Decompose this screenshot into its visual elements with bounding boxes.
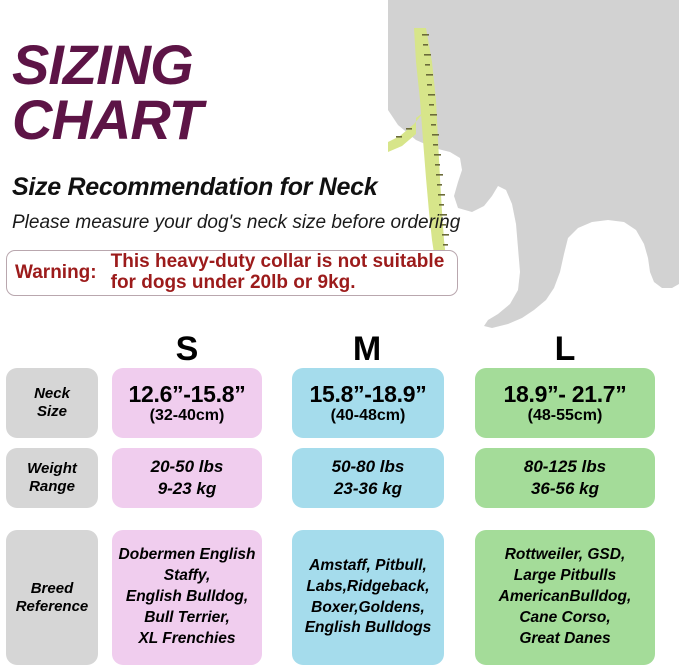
row-label-breed-line-1: Breed bbox=[31, 580, 74, 597]
breed-medium-line-2: Labs,Ridgeback, bbox=[305, 577, 432, 598]
breed-large-line-4: Cane Corso, bbox=[499, 608, 632, 629]
row-label-neck-line-2: Size bbox=[37, 403, 67, 420]
breed-small-line-1: Dobermen English bbox=[119, 545, 256, 566]
neck-size-medium-value: 15.8”-18.9” (40-48cm) bbox=[310, 382, 427, 424]
neck-size-small-value: 12.6”-15.8” (32-40cm) bbox=[129, 382, 246, 424]
breed-reference-large-value: Rottweiler, GSD, Large Pitbulls American… bbox=[499, 545, 632, 650]
neck-size-small-cm: (32-40cm) bbox=[129, 407, 246, 424]
row-label-breed-reference-text: Breed Reference bbox=[16, 580, 89, 616]
row-label-neck-size-text: Neck Size bbox=[34, 385, 70, 421]
weight-range-medium-value: 50-80 lbs 23-36 kg bbox=[332, 456, 405, 500]
row-label-neck-line-1: Neck bbox=[34, 385, 70, 402]
neck-size-medium-cell: 15.8”-18.9” (40-48cm) bbox=[292, 368, 444, 438]
row-label-weight-line-2: Range bbox=[29, 478, 75, 495]
breed-small-line-3: English Bulldog, bbox=[119, 587, 256, 608]
size-header-medium: M bbox=[292, 332, 442, 366]
page-title-line-1: SIZING bbox=[12, 38, 442, 93]
weight-range-large-value: 80-125 lbs 36-56 kg bbox=[524, 456, 606, 500]
weight-range-large-cell: 80-125 lbs 36-56 kg bbox=[475, 448, 655, 508]
weight-range-small-value: 20-50 lbs 9-23 kg bbox=[151, 456, 224, 500]
breed-medium-line-1: Amstaff, Pitbull, bbox=[305, 556, 432, 577]
breed-reference-medium-cell: Amstaff, Pitbull, Labs,Ridgeback, Boxer,… bbox=[292, 530, 444, 665]
row-label-weight-range-text: Weight Range bbox=[27, 460, 77, 496]
warning-message-line-2: for dogs under 20lb or 9kg. bbox=[111, 273, 449, 294]
row-label-weight-line-1: Weight bbox=[27, 460, 77, 477]
breed-large-line-3: AmericanBulldog, bbox=[499, 587, 632, 608]
neck-size-small-cell: 12.6”-15.8” (32-40cm) bbox=[112, 368, 262, 438]
weight-range-medium-cell: 50-80 lbs 23-36 kg bbox=[292, 448, 444, 508]
breed-large-line-1: Rottweiler, GSD, bbox=[499, 545, 632, 566]
row-label-neck-size: Neck Size bbox=[6, 368, 98, 438]
breed-reference-medium-value: Amstaff, Pitbull, Labs,Ridgeback, Boxer,… bbox=[305, 556, 432, 640]
neck-size-large-value: 18.9”- 21.7” (48-55cm) bbox=[504, 382, 627, 424]
subtitle: Size Recommendation for Neck bbox=[12, 173, 377, 202]
warning-message: This heavy-duty collar is not suitable f… bbox=[111, 252, 449, 293]
neck-size-medium-cm: (40-48cm) bbox=[310, 407, 427, 424]
size-header-small: S bbox=[112, 332, 262, 366]
neck-size-small-inches: 12.6”-15.8” bbox=[129, 382, 246, 407]
weight-range-small-kg: 9-23 kg bbox=[151, 478, 224, 500]
neck-size-large-cell: 18.9”- 21.7” (48-55cm) bbox=[475, 368, 655, 438]
weight-range-small-cell: 20-50 lbs 9-23 kg bbox=[112, 448, 262, 508]
warning-message-line-1: This heavy-duty collar is not suitable bbox=[111, 252, 449, 273]
page-title-line-2: CHART bbox=[12, 93, 442, 148]
neck-size-medium-inches: 15.8”-18.9” bbox=[310, 382, 427, 407]
instruction-text: Please measure your dog's neck size befo… bbox=[12, 212, 460, 234]
breed-reference-small-cell: Dobermen English Staffy, English Bulldog… bbox=[112, 530, 262, 665]
weight-range-large-kg: 36-56 kg bbox=[524, 478, 606, 500]
row-label-breed-reference: Breed Reference bbox=[6, 530, 98, 665]
page-title: SIZING CHART bbox=[12, 38, 442, 148]
weight-range-small-lbs: 20-50 lbs bbox=[151, 456, 224, 478]
breed-large-line-5: Great Danes bbox=[499, 629, 632, 650]
warning-box: Warning: This heavy-duty collar is not s… bbox=[6, 250, 458, 296]
breed-medium-line-3: Boxer,Goldens, bbox=[305, 598, 432, 619]
neck-size-large-inches: 18.9”- 21.7” bbox=[504, 382, 627, 407]
breed-small-line-2: Staffy, bbox=[119, 566, 256, 587]
breed-small-line-5: XL Frenchies bbox=[119, 629, 256, 650]
row-label-weight-range: Weight Range bbox=[6, 448, 98, 508]
breed-small-line-4: Bull Terrier, bbox=[119, 608, 256, 629]
breed-reference-small-value: Dobermen English Staffy, English Bulldog… bbox=[119, 545, 256, 650]
breed-reference-large-cell: Rottweiler, GSD, Large Pitbulls American… bbox=[475, 530, 655, 665]
breed-large-line-2: Large Pitbulls bbox=[499, 566, 632, 587]
breed-medium-line-4: English Bulldogs bbox=[305, 618, 432, 639]
warning-label: Warning: bbox=[15, 262, 111, 284]
row-label-breed-line-2: Reference bbox=[16, 598, 89, 615]
weight-range-medium-lbs: 50-80 lbs bbox=[332, 456, 405, 478]
size-header-large: L bbox=[475, 332, 655, 366]
weight-range-large-lbs: 80-125 lbs bbox=[524, 456, 606, 478]
neck-size-large-cm: (48-55cm) bbox=[504, 407, 627, 424]
weight-range-medium-kg: 23-36 kg bbox=[332, 478, 405, 500]
